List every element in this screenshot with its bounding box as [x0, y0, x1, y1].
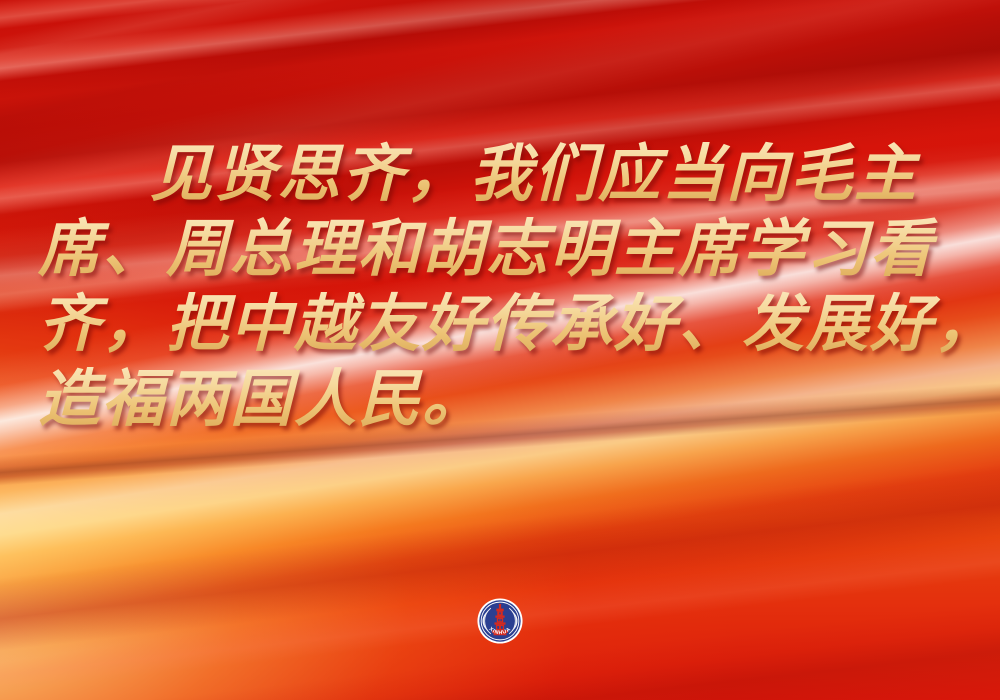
xinhua-logo-icon: XINHUA [477, 598, 523, 644]
quote-text-block: 见贤思齐，我们应当向毛主 席、周总理和胡志明主席学习看 齐，把中越友好传承好、发… [0, 138, 1000, 438]
xinhua-logo: XINHUA [477, 598, 523, 644]
quote-line-1: 见贤思齐，我们应当向毛主 [38, 138, 962, 213]
quote-card: 见贤思齐，我们应当向毛主 席、周总理和胡志明主席学习看 齐，把中越友好传承好、发… [0, 0, 1000, 700]
quote-line-2: 席、周总理和胡志明主席学习看 [38, 213, 962, 288]
quote-line-3: 齐，把中越友好传承好、发展好， [38, 288, 962, 363]
quote-line-4: 造福两国人民。 [38, 363, 962, 438]
